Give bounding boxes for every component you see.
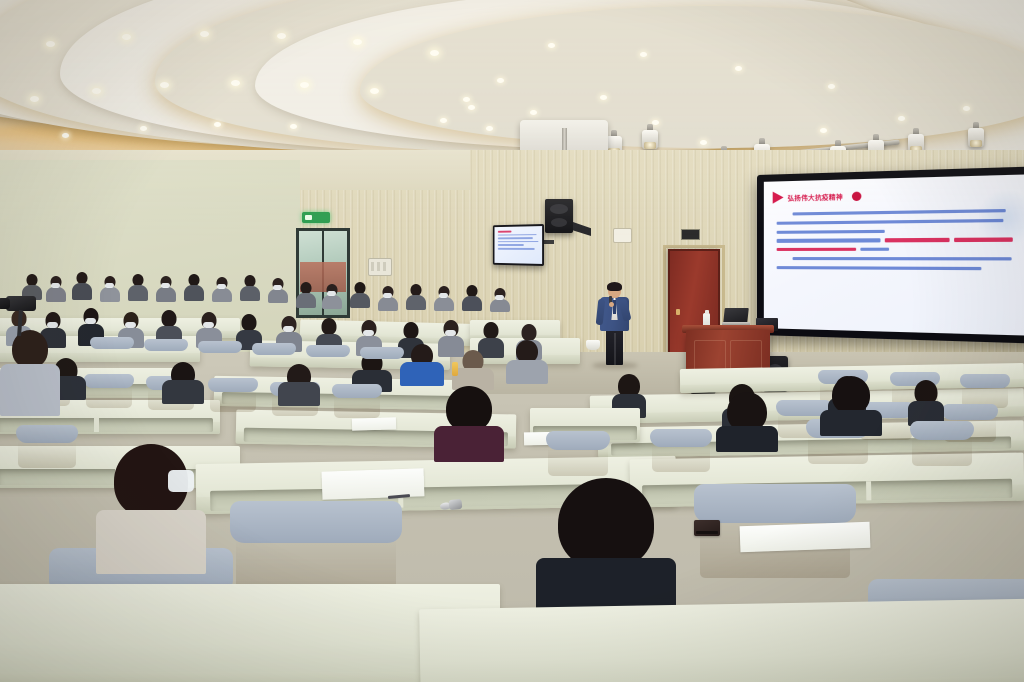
stage-spotlight — [966, 122, 986, 148]
stage-spotlight — [640, 124, 660, 150]
chair — [18, 430, 76, 468]
screen-bezel: 弘扬伟大抗疫精神 — [757, 166, 1024, 344]
audience-member-foreground — [96, 444, 206, 574]
chair — [92, 340, 132, 366]
slide-title: 弘扬伟大抗疫精神 — [788, 191, 843, 202]
notebook — [694, 520, 720, 536]
wall-speaker — [545, 199, 573, 233]
audience-member — [162, 362, 204, 404]
chair — [200, 344, 240, 370]
slide-header: 弘扬伟大抗疫精神 — [773, 189, 862, 203]
audience-member — [820, 376, 882, 436]
wall-plate-icon — [681, 229, 700, 240]
red-triangle-icon — [773, 191, 784, 203]
video-camera — [0, 292, 44, 318]
chair — [86, 378, 132, 408]
desk-row-front-right — [419, 599, 1024, 682]
lecture-hall-photo: 弘扬伟大抗疫精神 — [0, 0, 1024, 682]
chair — [210, 382, 256, 412]
audience-member — [716, 392, 778, 452]
drink-bottle — [452, 362, 458, 376]
chair — [362, 350, 402, 376]
paper-sheet — [352, 417, 396, 431]
presentation-slide: 弘扬伟大抗疫精神 — [764, 174, 1024, 336]
chair — [652, 434, 710, 472]
audience-member — [400, 344, 444, 386]
chair — [548, 436, 608, 476]
audience-member — [278, 364, 320, 406]
chair — [912, 426, 972, 466]
projection-screen: 弘扬伟大抗疫精神 — [757, 166, 1024, 344]
wall-control-panel[interactable] — [368, 258, 392, 276]
wall-mounted-box — [613, 228, 632, 243]
chair — [334, 388, 380, 418]
slide-page-badge — [852, 191, 861, 201]
audience-member — [908, 380, 944, 426]
key-ring — [439, 499, 462, 512]
wall-monitor — [493, 224, 544, 266]
audience-member — [452, 350, 494, 390]
audience-member — [0, 330, 60, 416]
presenter — [597, 283, 631, 365]
paper-cup — [586, 340, 600, 350]
paper-sheet — [740, 522, 871, 553]
exit-sign-icon — [302, 212, 330, 223]
audience-member — [506, 340, 548, 384]
face-mask — [168, 470, 194, 492]
slide-body: 2020年春节期间，接到北京市政府命令后，率领北京建工集团承建小汤山医院改建工程… — [777, 209, 1024, 277]
audience-member — [434, 386, 504, 462]
